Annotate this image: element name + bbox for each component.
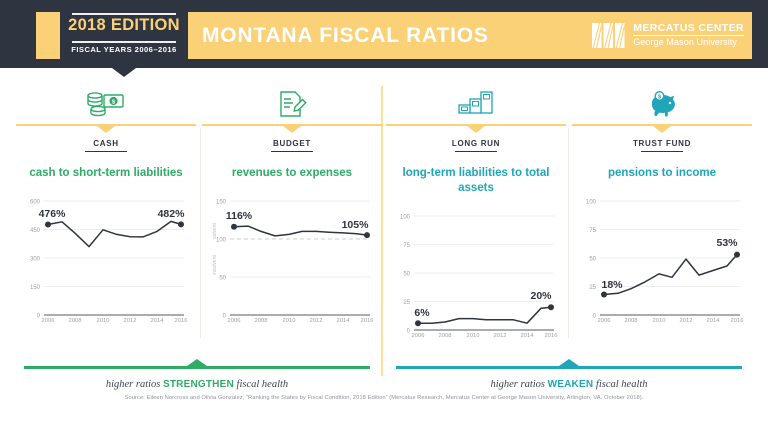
svg-text:2006: 2006 [598, 318, 611, 323]
svg-text:$: $ [112, 100, 115, 106]
svg-text:50: 50 [403, 272, 410, 278]
svg-text:2014: 2014 [521, 333, 535, 338]
panel-budget: BUDGET revenues to expenses 150100 500 s… [202, 86, 382, 323]
badge-subtitle: FISCAL YEARS 2006–2016 [60, 45, 188, 54]
chart-cash: 600450 300150 0 20062008 20102012 201420… [16, 195, 196, 323]
svg-text:2010: 2010 [653, 318, 666, 323]
svg-text:2006: 2006 [42, 318, 55, 323]
edition-badge: 2018 EDITION FISCAL YEARS 2006–2016 [60, 0, 188, 68]
footer-keyword: WEAKEN [548, 379, 594, 390]
panel-cash: $ CASH cash to short-term liabilities 60… [16, 86, 196, 323]
svg-text:150: 150 [216, 200, 227, 206]
panel-category-underline [455, 151, 497, 152]
panel-category-long-run: LONG RUN [386, 139, 566, 151]
panel-ratio-cash: cash to short-term liabilities [16, 166, 196, 181]
svg-text:150: 150 [30, 285, 41, 291]
panel-long-run: LONG RUN long-term liabilities to total … [386, 86, 566, 338]
svg-text:2010: 2010 [467, 333, 480, 338]
svg-text:50: 50 [219, 276, 226, 282]
start-value-label: 476% [39, 208, 67, 220]
start-value-label: 116% [226, 210, 253, 222]
footer-strengthen: higher ratios STRENGTHEN fiscal health [24, 366, 370, 390]
svg-text:2006: 2006 [228, 318, 241, 323]
mercatus-stripes-logo-icon [592, 23, 626, 48]
up-arrow-icon [559, 359, 579, 366]
panel-divider-1 [200, 128, 201, 338]
start-value-label: 18% [601, 279, 623, 291]
svg-text:2016: 2016 [361, 318, 374, 323]
panel-category-underline [85, 151, 127, 152]
axis-note-insolvent: insolvent [212, 255, 218, 275]
badge-title: 2018 EDITION [60, 16, 188, 35]
chart-long-run: 10075 5025 0 20062008 20102012 20142016 … [386, 210, 566, 338]
panel-category-cash: CASH [16, 139, 196, 151]
svg-text:100: 100 [400, 215, 411, 221]
svg-text:2012: 2012 [494, 333, 507, 338]
axis-note-solvent: solvent [212, 222, 218, 238]
svg-text:600: 600 [30, 200, 41, 206]
svg-text:2014: 2014 [337, 318, 351, 323]
footer-bar-teal [396, 366, 742, 369]
footer-weaken: higher ratios WEAKEN fiscal health [396, 366, 742, 390]
footer-prefix: higher ratios [490, 379, 547, 390]
chart-budget: 150100 500 solvent insolvent 20062008 20… [202, 195, 382, 323]
chart-trust-fund: 10075 5025 0 20062008 20102012 20142016 … [572, 195, 752, 323]
svg-text:2006: 2006 [412, 333, 425, 338]
panel-trust-fund: $ TRUST FUND pensions to income 10075 [572, 86, 752, 323]
end-value-label: 20% [530, 290, 552, 302]
svg-text:50: 50 [589, 257, 596, 263]
panel-category-underline [271, 151, 313, 152]
page-title: MONTANA FISCAL RATIOS [202, 24, 489, 48]
footer-suffix: fiscal health [234, 379, 288, 390]
panel-category-budget: BUDGET [202, 139, 382, 151]
panel-rule [202, 122, 382, 131]
footer-prefix: higher ratios [106, 379, 163, 390]
badge-rule-bottom [72, 41, 176, 43]
header-bar: 2018 EDITION FISCAL YEARS 2006–2016 MONT… [0, 0, 768, 68]
svg-text:25: 25 [589, 285, 596, 291]
svg-text:2016: 2016 [731, 318, 744, 323]
svg-text:25: 25 [403, 300, 410, 306]
end-value-label: 482% [158, 208, 186, 220]
panel-rule [572, 122, 752, 131]
logo-subtitle: George Mason University [633, 37, 744, 48]
svg-text:2012: 2012 [680, 318, 693, 323]
footer-bar-green [24, 366, 370, 369]
svg-text:$: $ [658, 94, 661, 100]
footer-suffix: fiscal health [593, 379, 647, 390]
footer-caption-weaken: higher ratios WEAKEN fiscal health [396, 379, 742, 390]
end-value-label: 105% [342, 219, 370, 231]
svg-text:2014: 2014 [151, 318, 165, 323]
panel-divider-2 [568, 128, 569, 338]
panel-category-trust-fund: TRUST FUND [572, 139, 752, 151]
svg-text:2008: 2008 [69, 318, 82, 323]
svg-text:2016: 2016 [545, 333, 558, 338]
stacked-bills-bar-icon [386, 86, 566, 122]
panel-rule [386, 122, 566, 131]
source-citation: Source: Eileen Norcross and Olivia Gonza… [0, 395, 768, 401]
svg-text:2012: 2012 [310, 318, 323, 323]
footer-keyword: STRENGTHEN [163, 379, 234, 390]
svg-text:0: 0 [37, 314, 41, 320]
logo-name: MERCATUS CENTER [633, 22, 744, 34]
svg-text:0: 0 [407, 329, 411, 335]
logo-divider [633, 35, 744, 36]
cash-bills-and-coins-icon: $ [16, 86, 196, 122]
svg-text:2008: 2008 [255, 318, 268, 323]
up-arrow-icon [187, 359, 207, 366]
svg-text:2014: 2014 [707, 318, 721, 323]
piggy-bank-icon: $ [572, 86, 752, 122]
svg-text:75: 75 [589, 228, 596, 234]
svg-text:2008: 2008 [625, 318, 638, 323]
document-with-pencil-icon [202, 86, 382, 122]
panel-ratio-trust-fund: pensions to income [572, 166, 752, 181]
panel-category-underline [641, 151, 683, 152]
svg-text:0: 0 [223, 314, 227, 320]
svg-text:450: 450 [30, 228, 41, 234]
svg-text:2016: 2016 [175, 318, 188, 323]
svg-text:0: 0 [593, 314, 597, 320]
mercatus-logo: MERCATUS CENTER George Mason University [592, 22, 744, 48]
svg-text:75: 75 [403, 243, 410, 249]
svg-text:2008: 2008 [439, 333, 452, 338]
svg-text:300: 300 [30, 257, 41, 263]
panel-ratio-long-run: long-term liabilities to total assets [386, 166, 566, 196]
svg-text:2010: 2010 [97, 318, 110, 323]
svg-text:100: 100 [586, 200, 597, 206]
start-value-label: 6% [414, 307, 430, 319]
svg-text:2010: 2010 [283, 318, 296, 323]
footer-caption-strengthen: higher ratios STRENGTHEN fiscal health [24, 379, 370, 390]
badge-rule-top [72, 13, 176, 15]
panel-rule [16, 122, 196, 131]
infographic-root: 2018 EDITION FISCAL YEARS 2006–2016 MONT… [0, 0, 768, 432]
panel-ratio-budget: revenues to expenses [202, 166, 382, 181]
end-value-label: 53% [716, 237, 738, 249]
svg-text:2012: 2012 [124, 318, 137, 323]
